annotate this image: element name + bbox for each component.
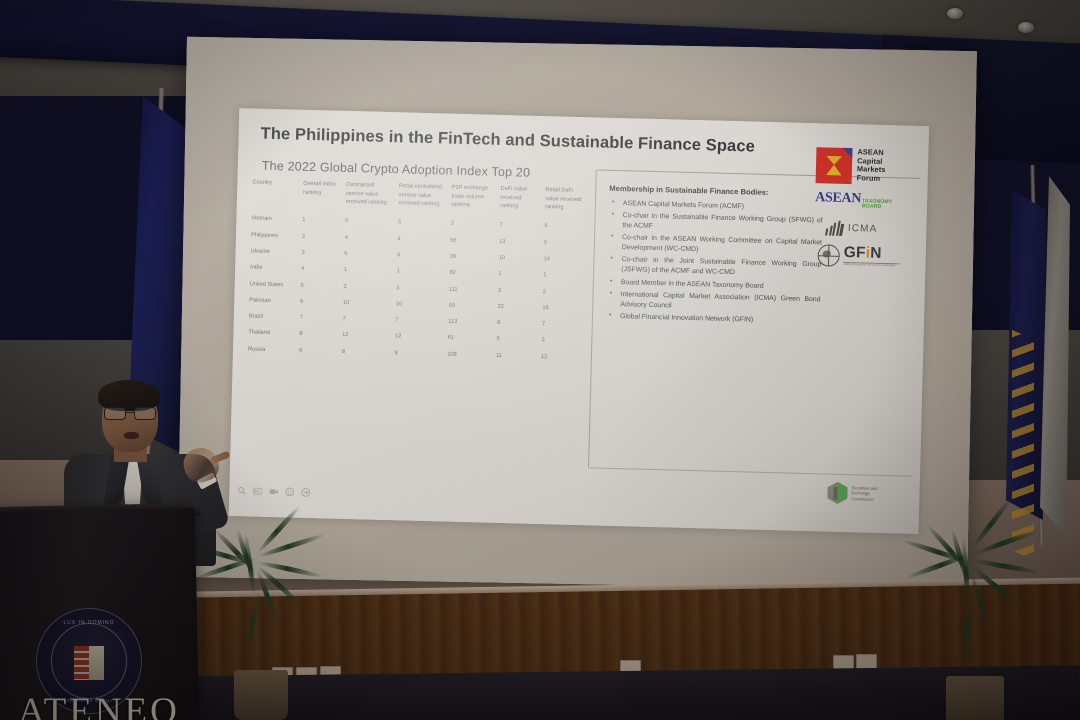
cell-country: Thailand: [245, 325, 296, 343]
acmf-logo: ASEANCapitalMarketsForum: [816, 147, 921, 186]
cell-retail-defi: 2: [540, 284, 587, 301]
cell-overall: 3: [298, 245, 341, 262]
cell-defi: 5: [493, 332, 538, 349]
potted-plant-right: [898, 520, 1048, 720]
crypto-adoption-table: Country Overall index ranking Centralize…: [245, 178, 590, 366]
cell-defi: 7: [496, 218, 541, 235]
cell-p2p: 113: [445, 314, 494, 332]
col-overall: Overall index ranking: [300, 180, 344, 214]
cell-country: Ukraine: [247, 244, 298, 262]
lecture-hall-scene: The Philippines in the FinTech and Susta…: [0, 0, 1080, 720]
col-p2p: P2P exchange trade volume ranking: [448, 184, 498, 218]
cell-country: Vietnam: [248, 211, 299, 229]
cell-retail-centralized: 3: [393, 280, 446, 298]
cell-retail-defi: 14: [540, 252, 587, 269]
cell-retail-defi: 7: [539, 317, 586, 334]
cell-retail-centralized: 1: [394, 264, 447, 282]
panel-rule-bottom: [590, 467, 912, 476]
sec-emblem-icon: [827, 482, 848, 505]
col-defi: DeFi value received ranking: [497, 185, 543, 219]
cell-p2p: 66: [447, 233, 496, 251]
cell-country: Philippines: [248, 228, 299, 246]
ceiling-light-icon: [1018, 22, 1034, 33]
seal-motto: LUX IN DOMINO: [37, 620, 141, 626]
icma-logo-text: ICMA: [848, 223, 878, 235]
cell-centralized: 8: [339, 344, 392, 362]
acmf-logo-text: ASEANCapitalMarketsForum: [857, 148, 887, 184]
cell-centralized: 12: [339, 328, 392, 346]
cell-country: Brazil: [246, 309, 297, 327]
cell-overall: 4: [298, 261, 341, 278]
slide-title: The Philippines in the FinTech and Susta…: [260, 125, 755, 157]
cell-p2p: 2: [448, 217, 497, 235]
slide-subtitle: The 2022 Global Crypto Adoption Index To…: [262, 159, 531, 180]
reaction-icon[interactable]: [285, 487, 294, 496]
cell-defi: 10: [496, 250, 541, 267]
plant-pot: [234, 670, 288, 720]
col-country: Country: [249, 178, 301, 212]
partner-logos: ASEANCapitalMarketsForum ASEAN TAXONOMYB…: [813, 147, 920, 268]
sec-logo: Securities and Exchange Commission: [827, 482, 878, 505]
arrow-right-icon[interactable]: [301, 488, 310, 497]
seal-shield-icon: [74, 646, 104, 680]
cell-overall: 8: [296, 326, 339, 343]
cell-retail-defi: 16: [539, 300, 586, 317]
sec-logo-text: Securities and Exchange Commission: [851, 485, 877, 502]
globe-icon: [817, 244, 840, 267]
cell-p2p: 111: [446, 282, 495, 300]
cell-p2p: 61: [445, 330, 494, 348]
cell-p2p: 39: [447, 249, 496, 267]
list-item: Global Financial Innovation Network (GFI…: [606, 312, 820, 327]
cell-retail-defi: 6: [541, 219, 588, 236]
cell-defi: 13: [496, 234, 541, 251]
cell-defi: 3: [495, 283, 540, 300]
cell-overall: 1: [299, 213, 342, 230]
cell-p2p: 109: [444, 347, 493, 365]
asean-rice-stalk-icon: [824, 154, 844, 177]
list-item: International Capital Market Association…: [606, 290, 820, 315]
cell-defi: 8: [494, 315, 539, 332]
cell-retail-centralized: 12: [392, 329, 445, 347]
cell-country: Russia: [245, 341, 296, 359]
video-camera-icon[interactable]: [269, 487, 278, 496]
cell-overall: 5: [297, 278, 340, 295]
atb-word: ASEAN: [815, 190, 861, 207]
col-retail-centralized: Retail centralized service value receive…: [395, 182, 449, 216]
meeting-toolbar[interactable]: [237, 486, 310, 497]
cell-country: Pakistan: [246, 293, 297, 311]
table-body: Vietnam155276 Philippines24466135 Ukrain…: [245, 211, 589, 366]
closed-caption-icon[interactable]: [253, 487, 262, 496]
eyeglasses-icon: [104, 407, 156, 418]
cell-overall: 6: [297, 294, 340, 311]
cell-retail-centralized: 5: [395, 215, 448, 233]
cell-retail-centralized: 7: [392, 313, 445, 331]
icma-bars-icon: [825, 220, 844, 235]
panel-divider: [588, 169, 597, 468]
cell-centralized: 3: [340, 279, 393, 297]
cell-defi: 22: [494, 299, 539, 316]
atb-tag: TAXONOMYBOARD: [862, 199, 892, 211]
cell-retail-defi: 5: [541, 235, 588, 252]
cell-centralized: 6: [341, 246, 394, 264]
col-centralized: Centralized service value received ranki…: [342, 181, 396, 215]
cell-centralized: 7: [339, 311, 392, 329]
list-item: Co-chair in the Joint Sustainable Financ…: [607, 255, 821, 280]
cell-retail-centralized: 4: [394, 231, 447, 249]
gfin-logo: GFiN Global Financial Innovation Network: [813, 244, 918, 269]
cell-p2p: 50: [445, 298, 494, 316]
cell-defi: 1: [495, 267, 540, 284]
presentation-slide: The Philippines in the FinTech and Susta…: [229, 108, 929, 534]
cell-retail-centralized: 6: [394, 248, 447, 266]
cell-overall: 7: [297, 310, 340, 327]
list-item: Co-chair in the Sustainable Finance Work…: [608, 211, 822, 236]
ceiling-light-icon: [947, 8, 963, 19]
cell-centralized: 10: [340, 295, 393, 313]
ateneo-wordmark: ATENEO: [18, 690, 180, 720]
list-item: Co-chair in the ASEAN Working Committee …: [608, 233, 822, 258]
gfin-logo-text: GFiN: [844, 245, 900, 262]
cell-retail-defi: 12: [538, 349, 585, 366]
cell-retail-centralized: 10: [393, 296, 446, 314]
asean-taxonomy-board-logo: ASEAN TAXONOMYBOARD: [815, 190, 919, 211]
cell-defi: 11: [493, 348, 538, 365]
cell-overall: 9: [296, 343, 339, 360]
cell-retail-centralized: 8: [391, 345, 444, 363]
icma-logo: ICMA: [814, 220, 918, 238]
cell-overall: 2: [299, 229, 342, 246]
plant-pot: [946, 676, 1004, 720]
cell-country: United States: [247, 276, 298, 294]
acmf-emblem-icon: [816, 147, 853, 184]
cell-country: India: [247, 260, 298, 278]
col-retail-defi: Retail DeFi value received ranking: [542, 186, 590, 220]
cell-retail-defi: 1: [540, 268, 587, 285]
cell-retail-defi: 3: [538, 333, 585, 350]
cell-p2p: 82: [446, 265, 495, 283]
cell-centralized: 4: [342, 230, 395, 248]
cell-centralized: 5: [342, 214, 395, 232]
cell-centralized: 1: [341, 263, 394, 281]
